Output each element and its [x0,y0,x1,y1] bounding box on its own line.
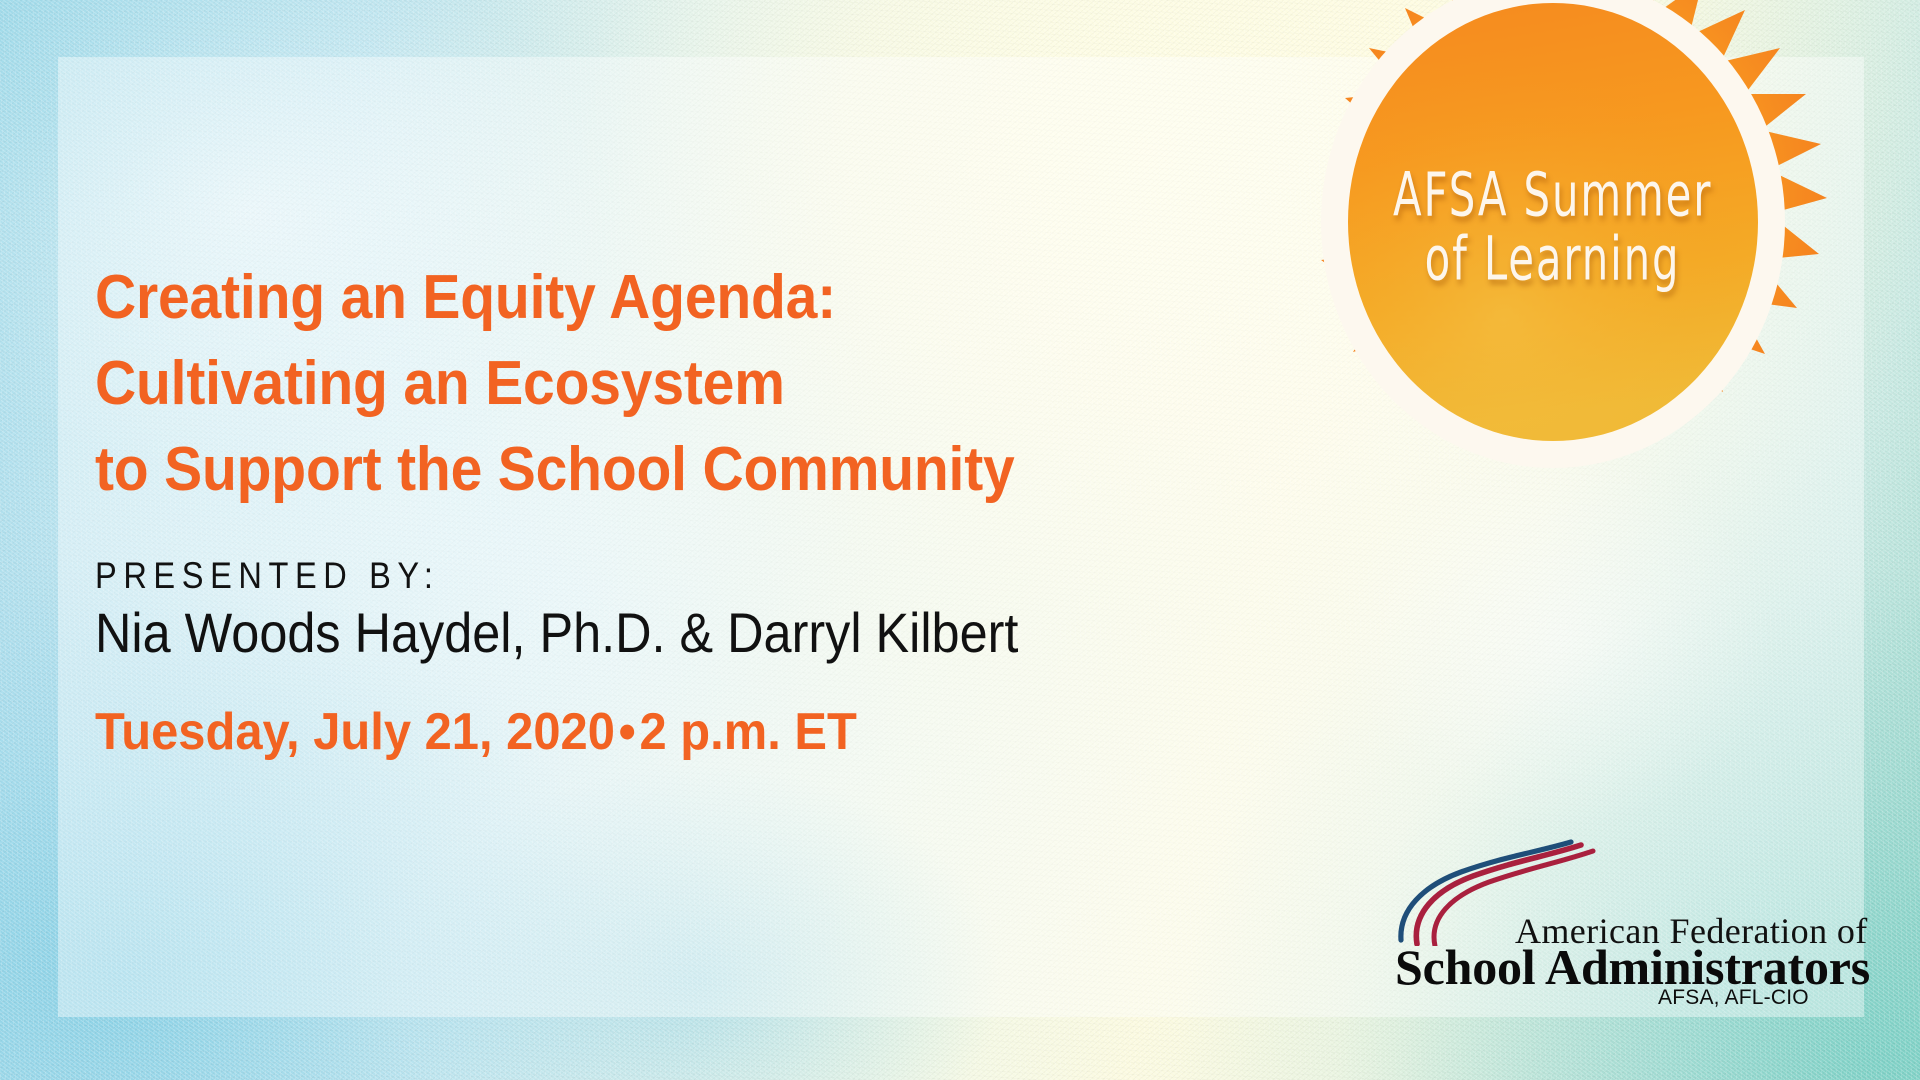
flyer-canvas: AFSA Summer of Learning Creating an Equi… [0,0,1920,1080]
presented-by-label: PRESENTED BY: [95,555,440,597]
sun-badge: AFSA Summer of Learning [1253,0,1853,526]
headline-line-2: Cultivating an Ecosystem [95,341,1181,427]
headline-line-1: Creating an Equity Agenda: [95,255,1181,341]
event-date: Tuesday, July 21, 2020 [95,703,615,761]
headline-line-3: to Support the School Community [95,427,1181,513]
sun-disc [1348,3,1758,441]
afsa-logo: American Federation of School Administra… [1395,838,1865,998]
event-separator: • [615,703,640,761]
event-time: 2 p.m. ET [640,703,857,761]
afsa-logo-line-3: AFSA, AFL-CIO [1658,986,1809,1010]
presenter-names: Nia Woods Haydel, Ph.D. & Darryl Kilbert [95,600,1018,665]
headline: Creating an Equity Agenda: Cultivating a… [95,255,1181,513]
event-datetime: Tuesday, July 21, 2020•2 p.m. ET [95,702,857,762]
